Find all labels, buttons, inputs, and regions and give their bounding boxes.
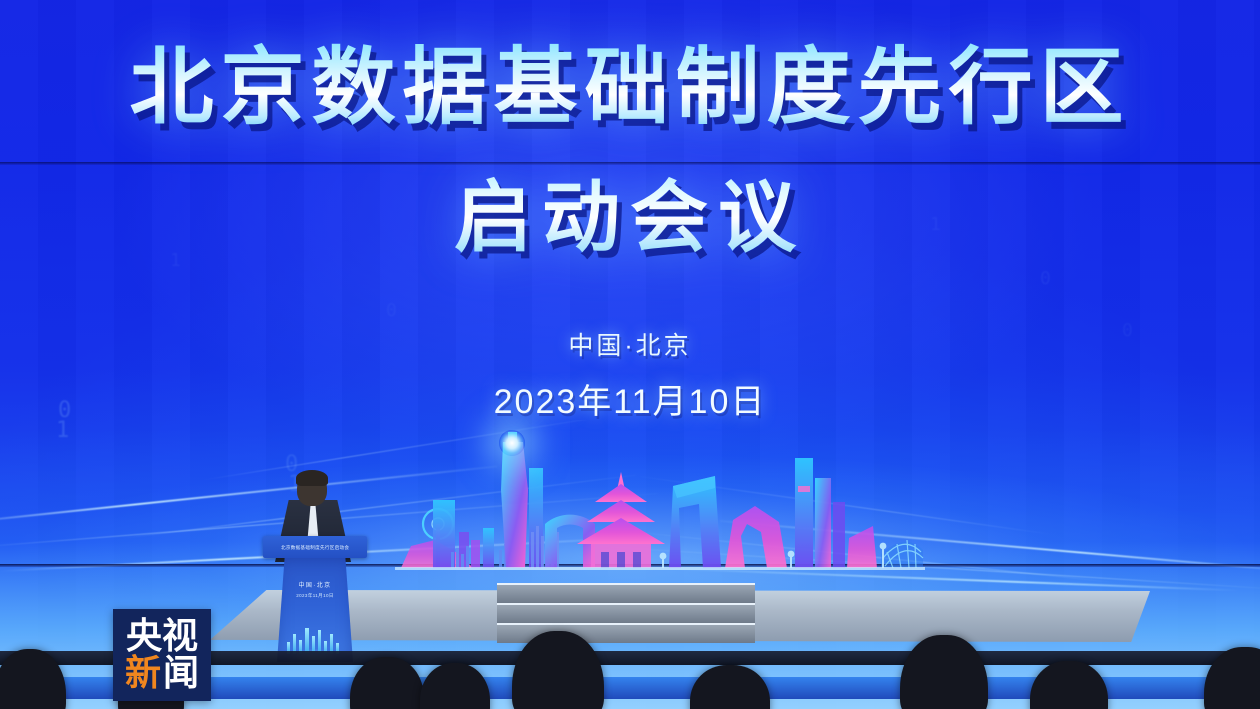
broadcast-still: 0 1 0 1 1 0 0 1 0 北京数据基础制度先行区 启动会议 中国·北京… bbox=[0, 0, 1260, 709]
skyline-svg bbox=[395, 428, 925, 576]
event-title-line2: 启动会议 bbox=[0, 155, 1260, 267]
event-date: 2023年11月10日 bbox=[0, 374, 1260, 423]
event-title-line1: 北京数据基础制度先行区 bbox=[0, 42, 1260, 133]
audience-head bbox=[0, 649, 66, 709]
event-title-block: 北京数据基础制度先行区 启动会议 bbox=[0, 42, 1260, 267]
cctv-news-logo-line2: 新 闻 bbox=[125, 656, 199, 692]
audience-head bbox=[512, 631, 604, 709]
binary-digit: 0 bbox=[386, 300, 398, 321]
cctv-news-logo-line1: 央视 bbox=[126, 619, 198, 655]
audience-head bbox=[1030, 661, 1108, 709]
speaker-hair bbox=[296, 470, 328, 486]
audience-head bbox=[1204, 647, 1260, 709]
audience-head bbox=[900, 635, 988, 709]
audience-head bbox=[690, 665, 770, 709]
logo-char-xin: 新 bbox=[125, 656, 161, 692]
event-location: 中国·北京 bbox=[0, 326, 1260, 362]
binary-digit: 0 bbox=[1040, 268, 1052, 289]
tower-beacon-glow bbox=[499, 430, 525, 456]
event-meta-block: 中国·北京 2023年11月10日 bbox=[0, 326, 1260, 423]
lectern-location: 中国·北京 bbox=[255, 580, 375, 589]
beijing-skyline-graphic bbox=[395, 428, 925, 576]
lectern-banner-text: 北京数据基础制度先行区启动会 bbox=[281, 544, 349, 550]
lectern-banner: 北京数据基础制度先行区启动会 bbox=[263, 536, 367, 558]
logo-char-yang-shi: 央视 bbox=[126, 619, 198, 655]
audience-head bbox=[420, 663, 490, 709]
audience-head bbox=[350, 657, 424, 709]
logo-char-wen: 闻 bbox=[163, 656, 199, 692]
cctv-news-logo: 央视 新 闻 bbox=[113, 609, 211, 701]
